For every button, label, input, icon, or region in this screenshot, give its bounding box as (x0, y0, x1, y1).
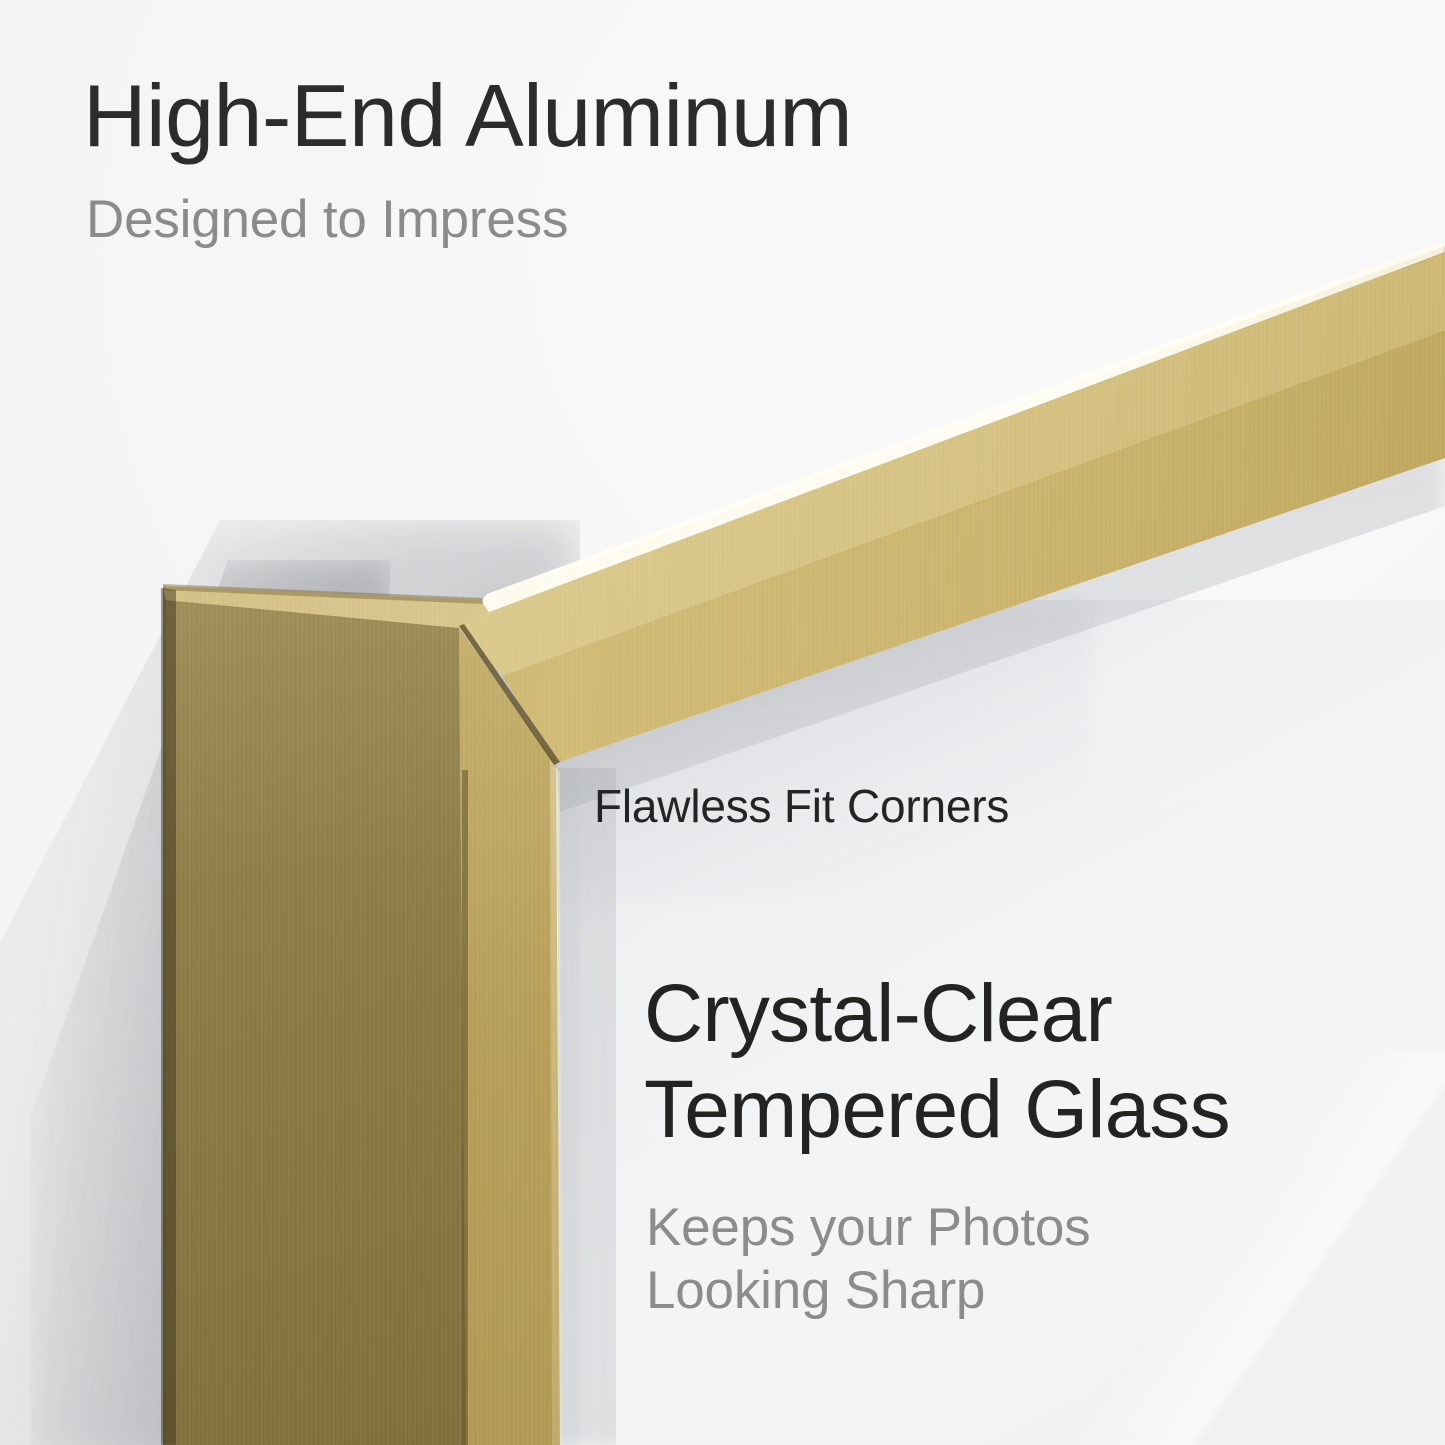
glass-feature-subtitle-line-1: Keeps your Photos (646, 1198, 1090, 1257)
product-feature-image: High-End Aluminum Designed to Impress Fl… (0, 0, 1445, 1445)
callout-flawless-fit-corners: Flawless Fit Corners (594, 783, 1009, 829)
glass-feature-subtitle: Keeps your PhotosLooking Sharp (646, 1197, 1090, 1322)
page-title: High-End Aluminum (83, 72, 852, 160)
page-subtitle: Designed to Impress (86, 193, 568, 246)
glass-feature-subtitle-line-2: Looking Sharp (646, 1261, 985, 1320)
glass-feature-title: Crystal-ClearTempered Glass (644, 966, 1230, 1158)
glass-feature-title-line-2: Tempered Glass (644, 1064, 1230, 1155)
glass-feature-title-line-1: Crystal-Clear (644, 968, 1112, 1059)
